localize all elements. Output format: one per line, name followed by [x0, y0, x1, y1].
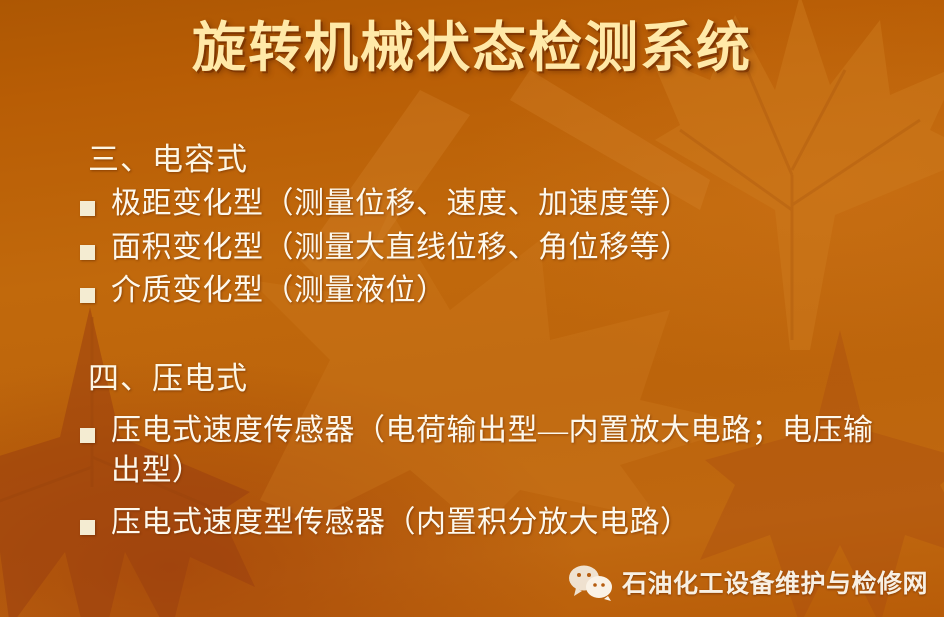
section-spacer [0, 311, 930, 359]
slide-body: 三、电容式 极距变化型（测量位移、速度、加速度等） 面积变化型（测量大直线位移、… [0, 140, 944, 617]
list-item: 介质变化型（测量液位） [0, 271, 930, 311]
bullet-list: 极距变化型（测量位移、速度、加速度等） 面积变化型（测量大直线位移、角位移等） … [0, 184, 930, 312]
list-item-label: 介质变化型（测量液位） [111, 271, 901, 311]
list-item: 压电式速度型传感器（内置积分放大电路） [0, 503, 930, 543]
section-heading: 四、压电式 [0, 359, 930, 399]
list-item-label: 极距变化型（测量位移、速度、加速度等） [111, 184, 901, 224]
bullet-list: 压电式速度传感器（电荷输出型—内置放大电路；电压输出型） 压电式速度型传感器（内… [0, 411, 930, 543]
list-item-label: 压电式速度传感器（电荷输出型—内置放大电路；电压输出型） [111, 411, 901, 491]
section-capacitive: 三、电容式 极距变化型（测量位移、速度、加速度等） 面积变化型（测量大直线位移、… [0, 140, 930, 311]
wechat-icon [568, 563, 614, 601]
square-bullet-icon [80, 428, 95, 443]
list-item-label: 面积变化型（测量大直线位移、角位移等） [111, 228, 901, 268]
section-piezoelectric: 四、压电式 压电式速度传感器（电荷输出型—内置放大电路；电压输出型） 压电式速度… [0, 359, 930, 542]
square-bullet-icon [80, 245, 95, 260]
title-bar: 旋转机械状态检测系统 [0, 18, 944, 77]
square-bullet-icon [80, 201, 95, 216]
page-title: 旋转机械状态检测系统 [192, 18, 752, 77]
watermark: 石油化工设备维护与检修网 [568, 563, 928, 601]
list-item-label: 压电式速度型传感器（内置积分放大电路） [111, 503, 901, 543]
watermark-label: 石油化工设备维护与检修网 [622, 564, 928, 600]
square-bullet-icon [80, 288, 95, 303]
square-bullet-icon [80, 520, 95, 535]
slide-canvas: 旋转机械状态检测系统 三、电容式 极距变化型（测量位移、速度、加速度等） 面积变… [0, 0, 944, 617]
list-item: 面积变化型（测量大直线位移、角位移等） [0, 228, 930, 268]
section-heading: 三、电容式 [0, 140, 930, 180]
list-item: 极距变化型（测量位移、速度、加速度等） [0, 184, 930, 224]
list-item: 压电式速度传感器（电荷输出型—内置放大电路；电压输出型） [0, 411, 930, 491]
heading-spacer [0, 399, 930, 407]
